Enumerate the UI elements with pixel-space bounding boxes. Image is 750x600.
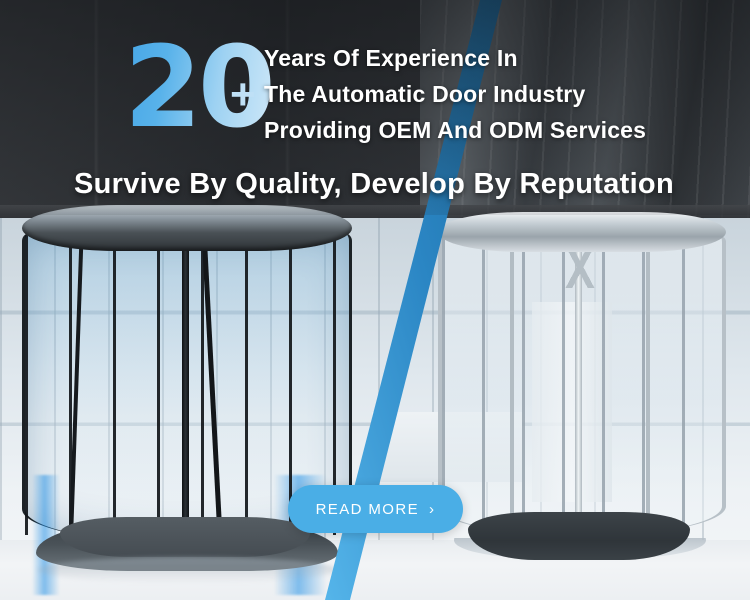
headline-line-3: Providing OEM And ODM Services (264, 112, 734, 148)
door-floor-mat-silver (468, 512, 690, 560)
headline-line-2: The Automatic Door Industry (264, 76, 734, 112)
door-wing-silver-right (646, 252, 650, 532)
door-floor-mat-dark (60, 517, 310, 557)
plus-icon: + (230, 80, 266, 116)
door-wing-silver-left (510, 252, 514, 532)
promo-banner: 20 + Years Of Experience In The Automati… (0, 0, 750, 600)
revolving-door-silver (432, 212, 732, 562)
door-center-post-dark (182, 235, 189, 550)
read-more-button[interactable]: READ MORE › (288, 485, 463, 533)
headline-lines: Years Of Experience In The Automatic Doo… (264, 40, 734, 148)
door-canopy-silver (438, 212, 726, 252)
floor-reflection-left (38, 557, 338, 583)
tagline: Survive By Quality, Develop By Reputatio… (74, 168, 714, 201)
headline-line-1: Years Of Experience In (264, 40, 734, 76)
read-more-label: READ MORE (316, 501, 419, 518)
chevron-right-icon: › (429, 501, 435, 518)
